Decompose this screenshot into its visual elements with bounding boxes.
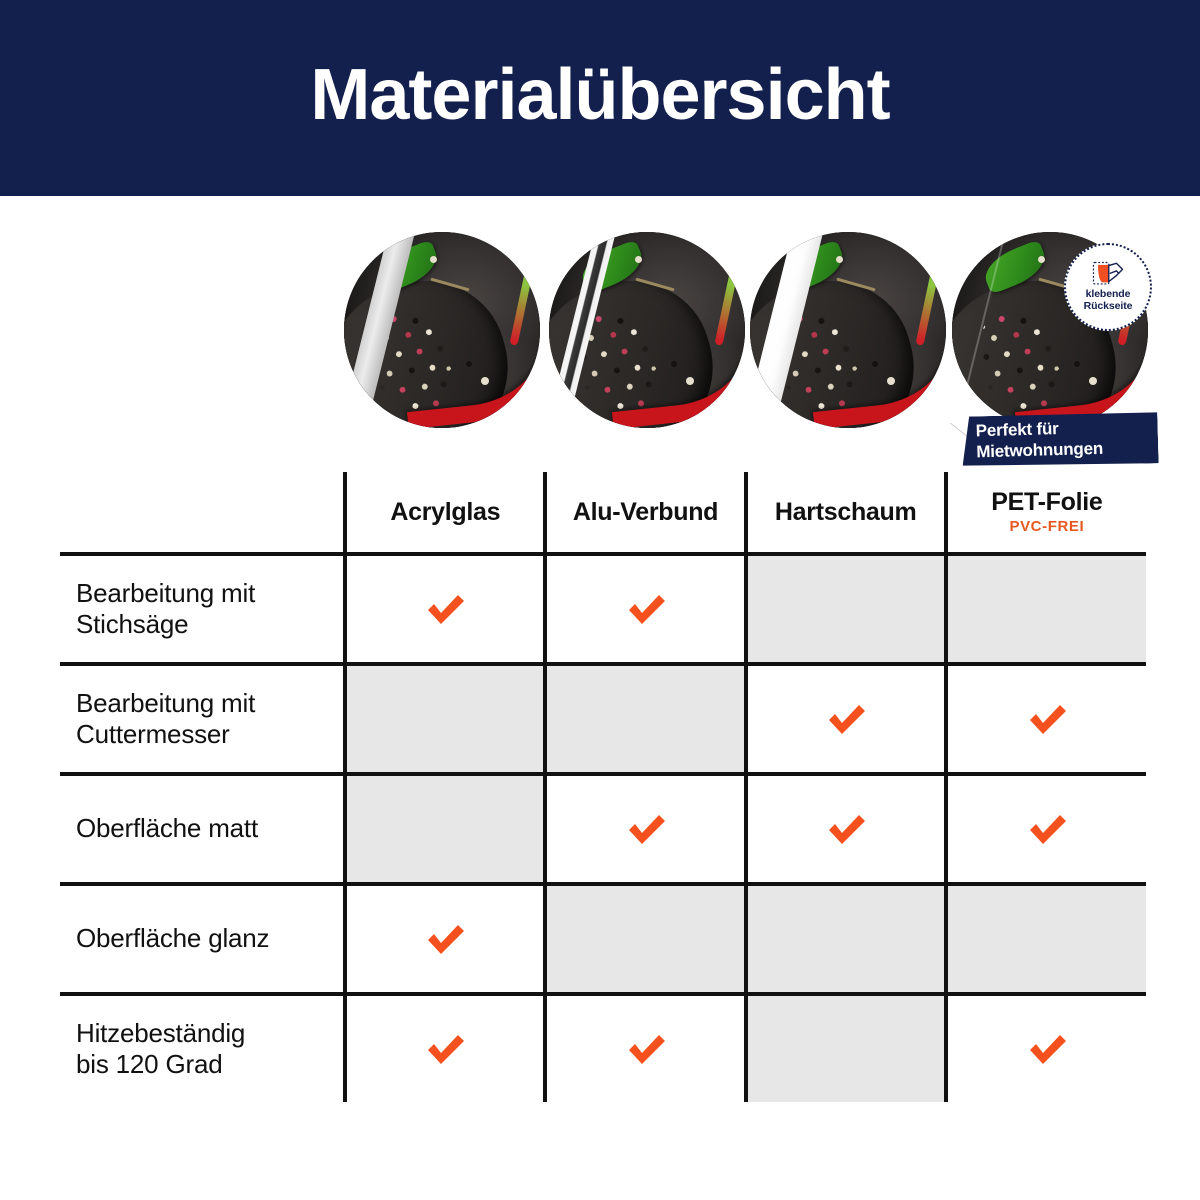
cell-matt-acrylglas (345, 774, 545, 884)
cell-hitze-alu-verbund (545, 994, 745, 1102)
value-cell (948, 776, 1146, 882)
red-chilli (395, 274, 540, 428)
spice-crumb (1074, 361, 1080, 367)
row-label-line2: bis 120 Grad (76, 1049, 333, 1080)
value-cell-disabled (948, 886, 1146, 992)
check-icon (1024, 1029, 1070, 1069)
perfekt-fuer-mietwohnungen-ribbon: Perfekt für Mietwohnungen (961, 411, 1158, 468)
check-icon (1024, 699, 1070, 739)
table-corner-cell (60, 472, 345, 554)
value-cell (547, 776, 743, 882)
spice-crumb (1038, 256, 1045, 263)
value-cell-disabled (347, 776, 543, 882)
column-header-label: Hartschaum (748, 499, 944, 525)
check-icon (422, 919, 468, 959)
cell-glanz-hartschaum (746, 884, 946, 994)
value-cell-disabled (748, 996, 944, 1102)
cell-cuttermesser-acrylglas (345, 664, 545, 774)
row-label-stichsaege: Bearbeitung mit Stichsäge (60, 554, 345, 664)
cell-stichsaege-alu-verbund (545, 554, 745, 664)
material-comparison-table: Acrylglas Alu-Verbund Hartschaum PET-Fol… (60, 472, 1146, 1102)
badge-label-line2: Rückseite (1084, 301, 1133, 313)
row-label-line1: Oberfläche matt (76, 813, 333, 844)
cell-cuttermesser-alu-verbund (545, 664, 745, 774)
column-header-label: PET-Folie (948, 489, 1146, 515)
check-icon (623, 1029, 669, 1069)
value-cell-disabled (347, 666, 543, 772)
value-cell (347, 886, 543, 992)
cell-glanz-pet-folie (946, 884, 1146, 994)
check-icon (422, 1029, 468, 1069)
column-header-hartschaum: Hartschaum (746, 472, 946, 554)
column-header-label: Alu-Verbund (547, 499, 743, 525)
check-icon (623, 589, 669, 629)
value-cell (547, 996, 743, 1102)
row-label-line1: Bearbeitung mit (76, 578, 333, 609)
value-cell (347, 556, 543, 662)
cell-stichsaege-acrylglas (345, 554, 545, 664)
cell-matt-hartschaum (746, 774, 946, 884)
check-icon (422, 589, 468, 629)
comparison-matrix: Acrylglas Alu-Verbund Hartschaum PET-Fol… (60, 472, 1146, 1102)
product-preview-hartschaum[interactable] (750, 232, 946, 428)
row-label-line1: Bearbeitung mit (76, 688, 333, 719)
column-header-pet-folie: PET-Folie PVC-FREI (946, 472, 1146, 554)
spice-crumb (671, 361, 677, 367)
column-header-sublabel-pvc-frei: PVC-FREI (948, 518, 1146, 535)
cell-cuttermesser-pet-folie (946, 664, 1146, 774)
table-body: Bearbeitung mit Stichsäge (60, 554, 1146, 1102)
table-row: Bearbeitung mit Stichsäge (60, 554, 1146, 664)
column-header-alu-verbund: Alu-Verbund (545, 472, 745, 554)
cell-cuttermesser-hartschaum (746, 664, 946, 774)
check-icon (823, 809, 869, 849)
value-cell (347, 996, 543, 1102)
header-banner: Materialübersicht (0, 0, 1200, 196)
product-photo-circle (549, 232, 745, 428)
table-row: Oberfläche glanz (60, 884, 1146, 994)
value-cell-disabled (547, 666, 743, 772)
check-icon (623, 809, 669, 849)
row-label-line2: Stichsäge (76, 609, 333, 640)
column-header-label: Acrylglas (347, 499, 543, 525)
spice-crumb (430, 256, 437, 263)
product-photo-circle (750, 232, 946, 428)
check-icon (823, 699, 869, 739)
cell-hitze-hartschaum (746, 994, 946, 1102)
page-title: Materialübersicht (310, 59, 889, 137)
cell-stichsaege-pet-folie (946, 554, 1146, 664)
row-label-line1: Oberfläche glanz (76, 923, 333, 954)
value-cell-disabled (748, 886, 944, 992)
value-cell-disabled (748, 556, 944, 662)
cell-hitze-pet-folie (946, 994, 1146, 1102)
spice-crumb (635, 256, 642, 263)
row-label-oberflaeche-glanz: Oberfläche glanz (60, 884, 345, 994)
product-preview-alu-verbund[interactable] (549, 232, 745, 428)
cell-hitze-acrylglas (345, 994, 545, 1102)
value-cell (748, 776, 944, 882)
product-preview-row (0, 232, 1200, 432)
spice-crumb (836, 256, 843, 263)
value-cell-disabled (547, 886, 743, 992)
row-label-line2: Cuttermesser (76, 719, 333, 750)
value-cell (748, 666, 944, 772)
product-preview-acrylglas[interactable] (344, 232, 540, 428)
value-cell-disabled (948, 556, 1146, 662)
cell-glanz-alu-verbund (545, 884, 745, 994)
cell-matt-pet-folie (946, 774, 1146, 884)
value-cell (948, 996, 1146, 1102)
row-label-cuttermesser: Bearbeitung mit Cuttermesser (60, 664, 345, 774)
ribbon-label-line2: Mietwohnungen (976, 437, 1159, 463)
peeling-sticker-icon (1091, 261, 1125, 287)
product-photo-circle (344, 232, 540, 428)
cell-glanz-acrylglas (345, 884, 545, 994)
table-row: Oberfläche matt (60, 774, 1146, 884)
cell-matt-alu-verbund (545, 774, 745, 884)
red-chilli (600, 274, 745, 428)
cell-stichsaege-hartschaum (746, 554, 946, 664)
spice-crumb (466, 361, 472, 367)
row-label-line1: Hitzebeständig (76, 1018, 333, 1049)
column-header-acrylglas: Acrylglas (345, 472, 545, 554)
spice-crumb (872, 361, 878, 367)
table-row: Bearbeitung mit Cuttermesser (60, 664, 1146, 774)
red-chilli (801, 274, 946, 428)
table-row: Hitzebeständig bis 120 Grad (60, 994, 1146, 1102)
material-overview-page: Materialübersicht (0, 0, 1200, 1200)
table-header-row: Acrylglas Alu-Verbund Hartschaum PET-Fol… (60, 472, 1146, 554)
value-cell (948, 666, 1146, 772)
klebende-rueckseite-badge: klebende Rückseite (1064, 243, 1152, 331)
check-icon (1024, 809, 1070, 849)
row-label-oberflaeche-matt: Oberfläche matt (60, 774, 345, 884)
value-cell (547, 556, 743, 662)
row-label-hitzebestaendig: Hitzebeständig bis 120 Grad (60, 994, 345, 1102)
